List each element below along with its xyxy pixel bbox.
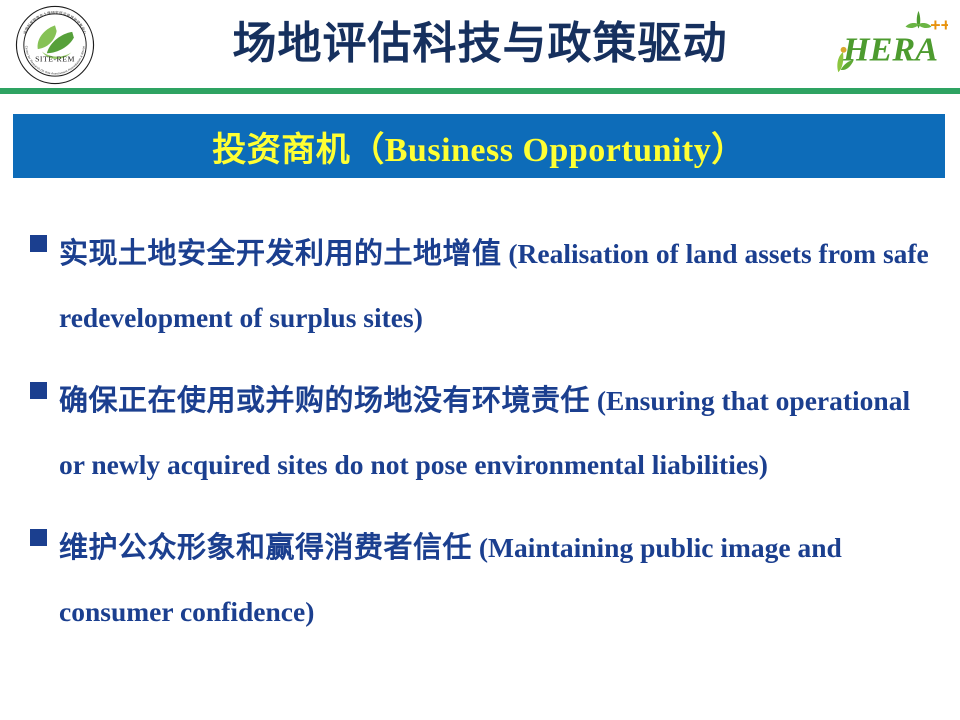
square-bullet-icon — [30, 529, 47, 546]
svg-text:HERA: HERA — [842, 31, 938, 68]
list-item: 确保正在使用或并购的场地没有环境责任 (Ensuring that operat… — [30, 369, 934, 496]
page-title: 场地评估科技与政策驱动 — [0, 0, 960, 88]
section-banner-title: 投资商机（Business Opportunity） — [212, 122, 746, 171]
header-divider — [0, 88, 960, 94]
list-item-text: 实现土地安全开发利用的土地增值 (Realisation of land ass… — [59, 222, 934, 349]
list-item-text-cn: 确保正在使用或并购的场地没有环境责任 — [59, 385, 590, 417]
list-item-text-cn: 实现土地安全开发利用的土地增值 — [59, 238, 502, 270]
bullet-list: 实现土地安全开发利用的土地增值 (Realisation of land ass… — [0, 222, 960, 663]
square-bullet-icon — [30, 235, 47, 252]
hera-logo: HERA ++ — [830, 6, 948, 80]
list-item-text: 维护公众形象和赢得消费者信任 (Maintaining public image… — [59, 516, 934, 643]
section-banner: 投资商机（Business Opportunity） — [13, 114, 945, 178]
list-item: 维护公众形象和赢得消费者信任 (Maintaining public image… — [30, 516, 934, 643]
list-item-text: 确保正在使用或并购的场地没有环境责任 (Ensuring that operat… — [59, 369, 934, 496]
list-item-text-cn: 维护公众形象和赢得消费者信任 — [59, 532, 472, 564]
list-item: 实现土地安全开发利用的土地增值 (Realisation of land ass… — [30, 222, 934, 349]
svg-text:++: ++ — [930, 15, 948, 35]
slide-header: SITE-REM 中国科学院南京土壤研究所污染场地修复中心 Center for… — [0, 0, 960, 91]
square-bullet-icon — [30, 382, 47, 399]
